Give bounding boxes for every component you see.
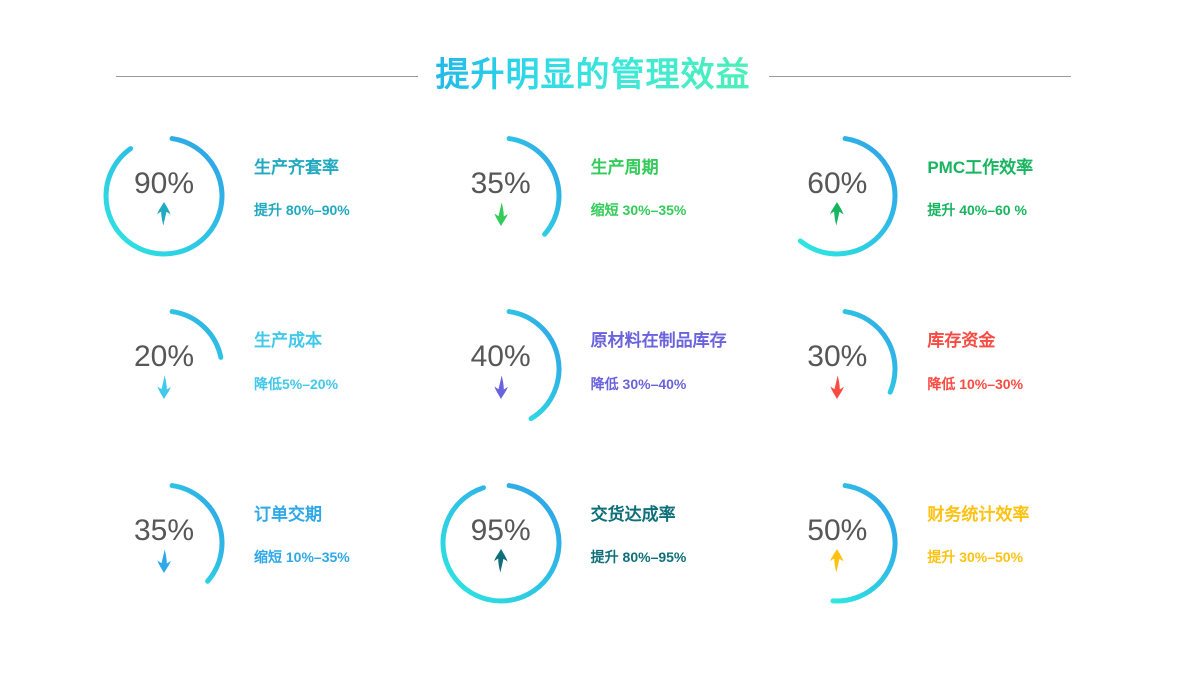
progress-ring: 35%	[96, 475, 232, 611]
metric-value: 30%	[807, 342, 867, 372]
arrow-down-icon-glyph	[153, 374, 175, 400]
progress-ring-center: 35%	[433, 128, 569, 264]
arrow-down-icon	[826, 374, 848, 400]
progress-ring: 90%	[96, 128, 232, 264]
metric-subtitle: 提升 80%–95%	[591, 549, 687, 566]
arrow-up-icon	[826, 201, 848, 227]
metric-card: 50% 财务统计效率 提升 30%–50%	[769, 469, 1106, 642]
metric-subtitle: 提升 30%–50%	[927, 549, 1023, 566]
metric-text-block: 交货达成率 提升 80%–95%	[591, 505, 687, 566]
page-title: 提升明显的管理效益	[436, 57, 751, 94]
progress-ring: 35%	[433, 128, 569, 264]
metric-subtitle: 降低 30%–40%	[591, 376, 687, 393]
metric-subtitle: 缩短 10%–35%	[254, 549, 350, 566]
metric-title: 生产齐套率	[254, 158, 339, 178]
metrics-grid: 90% 生产齐套率 提升 80%–90%	[96, 122, 1106, 642]
metric-card: 35% 订单交期 缩短 10%–35%	[96, 469, 433, 642]
arrow-up-icon	[826, 548, 848, 574]
arrow-down-icon	[153, 374, 175, 400]
metric-subtitle: 降低5%–20%	[254, 376, 338, 393]
arrow-down-icon	[490, 201, 512, 227]
metric-subtitle: 提升 40%–60 %	[927, 202, 1027, 219]
metric-subtitle: 缩短 30%–35%	[591, 202, 687, 219]
progress-ring-center: 50%	[769, 475, 905, 611]
progress-ring: 95%	[433, 475, 569, 611]
progress-ring-center: 95%	[433, 475, 569, 611]
metric-text-block: 生产周期 缩短 30%–35%	[591, 158, 687, 219]
page-header: 提升明显的管理效益	[0, 46, 1186, 106]
metric-value: 95%	[471, 516, 531, 546]
arrow-down-icon-glyph	[490, 201, 512, 227]
metric-value: 35%	[471, 169, 531, 199]
progress-ring-center: 20%	[96, 301, 232, 437]
metric-title: 生产成本	[254, 331, 322, 351]
arrow-down-icon-glyph	[490, 374, 512, 400]
metric-title: 库存资金	[927, 331, 995, 351]
metric-title: 订单交期	[254, 505, 322, 525]
metric-text-block: 财务统计效率 提升 30%–50%	[927, 505, 1029, 566]
arrow-down-icon-glyph	[826, 374, 848, 400]
arrow-down-icon	[490, 374, 512, 400]
metric-subtitle: 提升 80%–90%	[254, 202, 350, 219]
metric-text-block: 库存资金 降低 10%–30%	[927, 331, 1023, 392]
progress-ring: 60%	[769, 128, 905, 264]
metric-title: 原材料在制品库存	[591, 331, 727, 351]
title-divider-right	[769, 76, 1071, 77]
progress-ring-center: 40%	[433, 301, 569, 437]
progress-ring-center: 90%	[96, 128, 232, 264]
metric-value: 50%	[807, 516, 867, 546]
metric-title: 财务统计效率	[927, 505, 1029, 525]
metric-title: 交货达成率	[591, 505, 676, 525]
metric-value: 90%	[134, 169, 194, 199]
arrow-up-icon	[490, 548, 512, 574]
metric-text-block: 生产成本 降低5%–20%	[254, 331, 338, 392]
metric-value: 60%	[807, 169, 867, 199]
progress-ring-center: 35%	[96, 475, 232, 611]
metric-subtitle: 降低 10%–30%	[927, 376, 1023, 393]
metric-card: 30% 库存资金 降低 10%–30%	[769, 295, 1106, 468]
metric-card: 60% PMC工作效率 提升 40%–60 %	[769, 122, 1106, 295]
progress-ring: 50%	[769, 475, 905, 611]
arrow-up-icon-glyph	[490, 548, 512, 574]
metric-card: 95% 交货达成率 提升 80%–95%	[433, 469, 770, 642]
metric-value: 40%	[471, 342, 531, 372]
progress-ring: 30%	[769, 301, 905, 437]
progress-ring-center: 60%	[769, 128, 905, 264]
metric-text-block: 订单交期 缩短 10%–35%	[254, 505, 350, 566]
metric-title: 生产周期	[591, 158, 659, 178]
arrow-up-icon	[153, 201, 175, 227]
arrow-up-icon-glyph	[153, 201, 175, 227]
metric-text-block: 生产齐套率 提升 80%–90%	[254, 158, 350, 219]
arrow-down-icon	[153, 548, 175, 574]
metric-card: 20% 生产成本 降低5%–20%	[96, 295, 433, 468]
metric-card: 40% 原材料在制品库存 降低 30%–40%	[433, 295, 770, 468]
metric-title: PMC工作效率	[927, 158, 1033, 178]
metric-card: 90% 生产齐套率 提升 80%–90%	[96, 122, 433, 295]
metric-card: 35% 生产周期 缩短 30%–35%	[433, 122, 770, 295]
metric-text-block: 原材料在制品库存 降低 30%–40%	[591, 331, 727, 392]
title-divider-left	[116, 76, 418, 77]
metric-value: 20%	[134, 342, 194, 372]
metric-value: 35%	[134, 516, 194, 546]
progress-ring: 20%	[96, 301, 232, 437]
arrow-up-icon-glyph	[826, 201, 848, 227]
arrow-down-icon-glyph	[153, 548, 175, 574]
metric-text-block: PMC工作效率 提升 40%–60 %	[927, 158, 1033, 219]
arrow-up-icon-glyph	[826, 548, 848, 574]
progress-ring-center: 30%	[769, 301, 905, 437]
progress-ring: 40%	[433, 301, 569, 437]
